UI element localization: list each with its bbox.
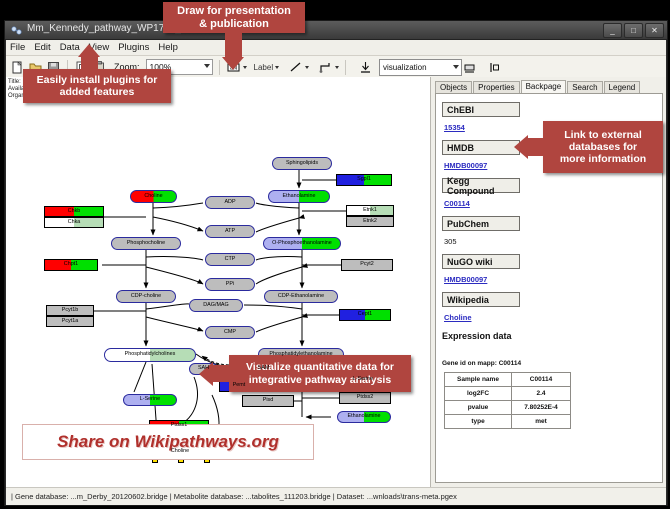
node-label: Pisd [263,398,274,403]
node-label: CDP-Ethanolamine [278,294,324,299]
node-label: ADP [224,200,235,205]
connector-icon [318,60,333,75]
node-label: Ptdss2 [357,395,373,400]
line-dropdown[interactable] [288,60,309,75]
gene-node-pcyt1b[interactable]: Pcyt1b [46,305,94,316]
menu-help[interactable]: Help [158,42,178,53]
node-label: Chka [68,220,81,225]
gene-node-pisd[interactable]: Pisd [242,395,294,407]
app-icon [11,25,22,36]
visualization-combobox[interactable]: visualization [379,59,462,76]
tab-search[interactable]: Search [567,81,602,93]
metabolite-node-choline-top[interactable]: Choline [130,190,177,203]
gene-node-chkb[interactable]: Chkb [44,206,104,217]
cell-sample-name-val: C00114 [512,373,571,387]
node-label: Pcyt2 [360,262,373,267]
cell-pvalue-key: pvalue [445,401,512,415]
metabolite-node-l-serine-left[interactable]: L-Serine [123,394,177,406]
metabolite-node-cdp-ethanolamine[interactable]: CDP-Ethanolamine [264,290,338,303]
node-label: ATP [225,229,235,234]
menu-edit[interactable]: Edit [34,42,50,53]
section-header-hmdb: HMDB [442,140,520,155]
cell-sample-name-key: Sample name [445,373,512,387]
node-label: Pcyt1a [62,319,78,324]
menu-file[interactable]: File [10,42,25,53]
node-label: Chkb [68,209,81,214]
gene-id-line: Gene id on mapp: C00114 [442,360,521,367]
line-icon [288,60,303,75]
menu-bar: File Edit Data View Plugins Help [6,40,666,56]
node-label: Pcyt1b [62,308,78,313]
node-label: CTP [225,257,236,262]
section-header-wikipedia: Wikipedia [442,292,520,307]
metabolite-node-ctp[interactable]: CTP [205,253,255,266]
node-label: Choline [144,194,162,199]
metabolite-node-ppi[interactable]: PPi [205,278,255,291]
callout-link-stem [528,138,545,156]
metabolite-node-atp[interactable]: ATP [205,225,255,238]
metabolite-node-adp[interactable]: ADP [205,196,255,209]
callout-share-text: Share on Wikipathways.org [57,432,279,452]
metabolite-node-cdp-choline[interactable]: CDP-choline [116,290,176,303]
cell-type-val: met [512,415,571,429]
node-label: SAM [258,366,270,371]
node-label: DAG/MAG [203,303,228,308]
section-header-pubchem: PubChem [442,216,520,231]
node-label: Etnk2 [363,219,377,224]
section-header-kegg: Kegg Compound [442,178,520,193]
tab-objects[interactable]: Objects [435,81,472,93]
tab-legend[interactable]: Legend [604,81,641,93]
cell-log2fc-val: 2.4 [512,387,571,401]
table-row: type met [445,415,571,429]
gene-node-chka[interactable]: Chka [44,217,104,228]
chevron-down-icon [275,66,279,69]
metabolite-node-o-phosphoethanolamine[interactable]: O-Phosphoethanolamine [263,237,341,250]
side-panel-tabs: Objects Properties Backpage Search Legen… [435,79,641,93]
align-top-icon[interactable] [358,60,373,75]
tab-properties[interactable]: Properties [473,81,519,93]
expression-table: Sample name C00114 log2FC 2.4 pvalue 7.8… [444,372,571,429]
metabolite-node-cmp[interactable]: CMP [205,326,255,339]
link-chebi[interactable]: 15354 [444,123,465,132]
title-bar: Mm_Kennedy_pathway_WP1771_45176.gpml _ □… [5,21,667,40]
node-label: L-Serine [353,377,373,382]
callout-link-arrow [514,135,528,159]
node-label: Chpt1 [64,262,78,267]
callout-plugins-text: Easily install plugins for added feature… [37,74,158,98]
node-label: Phosphocholine [127,241,165,246]
menu-data[interactable]: Data [60,42,80,53]
cell-pvalue-val: 7.80252E-4 [512,401,571,415]
gene-node-chpt1[interactable]: Chpt1 [44,259,98,271]
gene-node-cept1[interactable]: Cept1 [339,309,391,321]
close-button[interactable]: ✕ [645,23,664,38]
chevron-down-icon [335,66,339,69]
table-row: pvalue 7.80252E-4 [445,401,571,415]
metabolite-node-sphingolipids[interactable]: Sphingolipids [272,157,332,170]
link-wikipedia[interactable]: Choline [444,313,472,322]
metabolite-node-phosphocholine[interactable]: Phosphocholine [111,237,181,250]
cell-type-key: type [445,415,512,429]
node-label: CMP [224,330,236,335]
section-header-nugo: NuGO wiki [442,254,520,269]
node-label: Choline [171,449,189,454]
window-buttons: _ □ ✕ [603,23,664,38]
callout-draw: Draw for presentation & publication [163,2,305,33]
node-label: Phosphatidylethanolamine [269,352,332,357]
label-dropdown[interactable]: Label [254,63,280,72]
chevron-down-icon [305,66,309,69]
visualization-value: visualization [383,63,427,72]
callout-visualize: Visualize quantitative data for integrat… [229,355,411,392]
callout-draw-arrow [222,57,244,70]
expression-data-title: Expression data [442,331,512,341]
status-text: | Gene database: ...m_Derby_20120602.bri… [6,492,457,501]
node-label: Sphingolipids [286,161,318,166]
node-label: PPi [226,282,234,287]
node-label: Ethanolamine [348,414,381,419]
gene-node-etnk1[interactable]: Etnk1 [346,205,394,216]
connector-dropdown[interactable] [318,60,339,75]
node-label: SAH [198,366,209,371]
label-dropdown-caption: Label [254,63,274,72]
node-label: Cept1 [358,312,372,317]
node-label: O-Phosphoethanolamine [272,241,332,246]
node-label: Sgpl1 [357,177,371,182]
node-label: Ptdss1 [171,423,187,428]
callout-share: Share on Wikipathways.org [22,424,314,460]
section-header-chebi: ChEBI [442,102,520,117]
metabolite-node-ethanolamine-right[interactable]: Ethanolamine [337,411,391,423]
callout-draw-text: Draw for presentation & publication [177,5,291,30]
link-kegg[interactable]: C00114 [444,199,470,208]
maximize-button[interactable]: □ [624,23,643,38]
value-pubchem: 305 [444,237,457,246]
metabolite-node-phosphatidylcholine[interactable]: Phosphatidylcholines [104,348,196,362]
callout-link-text: Link to external databases for more info… [560,129,646,165]
cell-log2fc-key: log2FC [445,387,512,401]
node-label: CDP-choline [131,294,161,299]
node-label: Etnk1 [363,208,377,213]
stack-icon[interactable] [462,60,477,75]
table-row: log2FC 2.4 [445,387,571,401]
tab-backpage[interactable]: Backpage [521,80,567,93]
toolbar-separator-3 [345,60,346,75]
callout-draw-stem [225,33,242,58]
node-label: L-Serine [140,397,160,402]
menu-plugins[interactable]: Plugins [118,42,149,53]
callout-plugins-arrow [78,44,100,57]
toolbar-separator-2 [219,60,220,75]
gene-node-etnk2[interactable]: Etnk2 [346,216,394,227]
link-nugo[interactable]: HMDB00097 [444,275,487,284]
screenshot-root: Mm_Kennedy_pathway_WP1771_45176.gpml _ □… [0,0,670,509]
table-row: Sample name C00114 [445,373,571,387]
gene-node-pcyt1a[interactable]: Pcyt1a [46,316,94,327]
callout-link: Link to external databases for more info… [543,121,663,173]
status-bar: | Gene database: ...m_Derby_20120602.bri… [6,487,666,505]
callout-plugins-stem [81,55,98,71]
chevron-down-icon [453,65,459,69]
metabolite-node-dag-mag[interactable]: DAG/MAG [189,299,243,312]
callout-visualize-stem [213,365,230,382]
node-label: Phosphatidylcholines [125,352,176,357]
node-label: Ethanolamine [283,194,316,199]
chevron-down-icon [204,64,210,68]
callout-plugins: Easily install plugins for added feature… [23,69,171,103]
metabolite-node-ethanolamine-top[interactable]: Ethanolamine [268,190,330,203]
gene-node-sgpl1[interactable]: Sgpl1 [336,174,392,186]
node-label: Pemt [233,383,246,388]
gene-node-pcyt2[interactable]: Pcyt2 [341,259,393,271]
order-icon[interactable] [488,60,503,75]
minimize-button[interactable]: _ [603,23,622,38]
gene-node-ptdss2[interactable]: Ptdss2 [339,392,391,404]
link-hmdb[interactable]: HMDB00097 [444,161,487,170]
